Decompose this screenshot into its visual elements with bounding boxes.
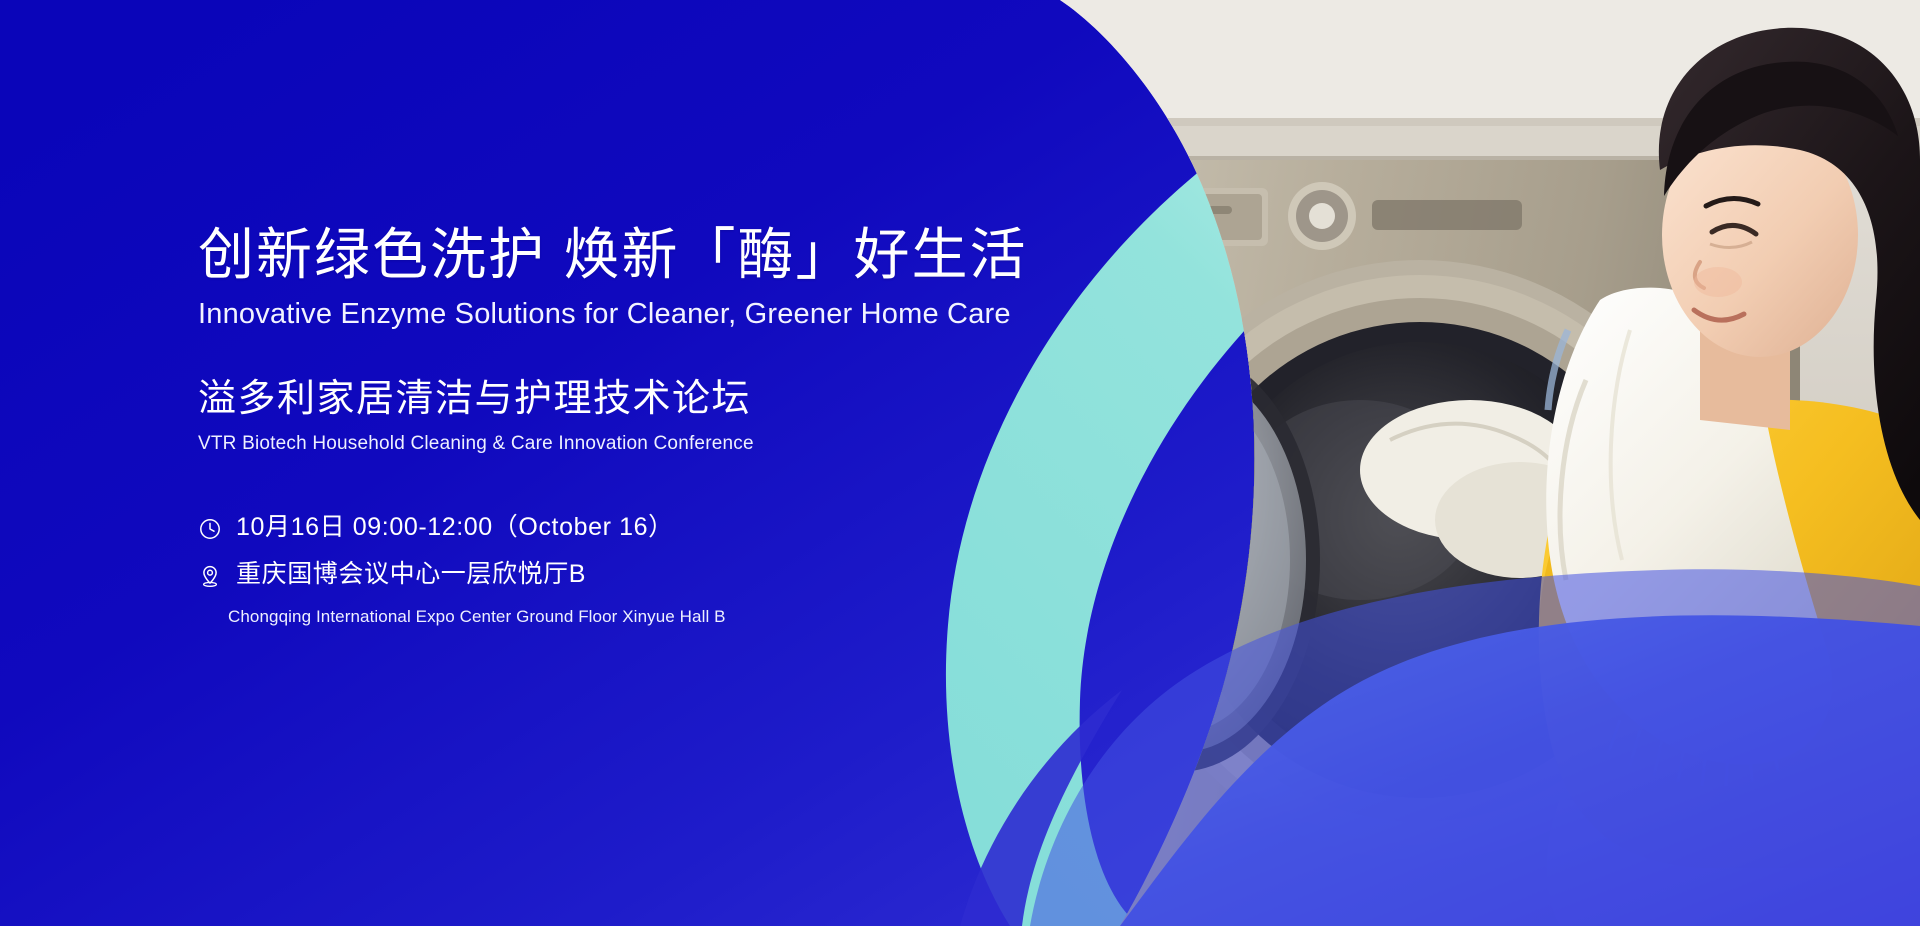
banner-text-content: 创新绿色洗护 焕新「酶」好生活 Innovative Enzyme Soluti… xyxy=(198,0,1098,926)
location-pin-icon xyxy=(198,564,222,588)
event-venue-row: 重庆国博会议中心一层欣悦厅B xyxy=(198,559,1098,590)
page-title-english: Innovative Enzyme Solutions for Cleaner,… xyxy=(198,296,1098,334)
event-details: 10月16日 09:00-12:00（October 16） 重庆国博会议中心一… xyxy=(198,512,1098,629)
event-time-row: 10月16日 09:00-12:00（October 16） xyxy=(198,512,1098,543)
conference-banner: 创新绿色洗护 焕新「酶」好生活 Innovative Enzyme Soluti… xyxy=(0,0,1920,926)
event-venue-text-en: Chongqing International Expo Center Grou… xyxy=(228,606,1098,629)
event-time-text: 10月16日 09:00-12:00（October 16） xyxy=(236,512,674,543)
clock-icon xyxy=(198,517,222,541)
conference-name-english: VTR Biotech Household Cleaning & Care In… xyxy=(198,432,1098,457)
conference-name: 溢多利家居清洁与护理技术论坛 xyxy=(198,376,1098,424)
page-title: 创新绿色洗护 焕新「酶」好生活 xyxy=(198,222,1098,288)
event-venue-text-cn: 重庆国博会议中心一层欣悦厅B xyxy=(236,559,586,590)
